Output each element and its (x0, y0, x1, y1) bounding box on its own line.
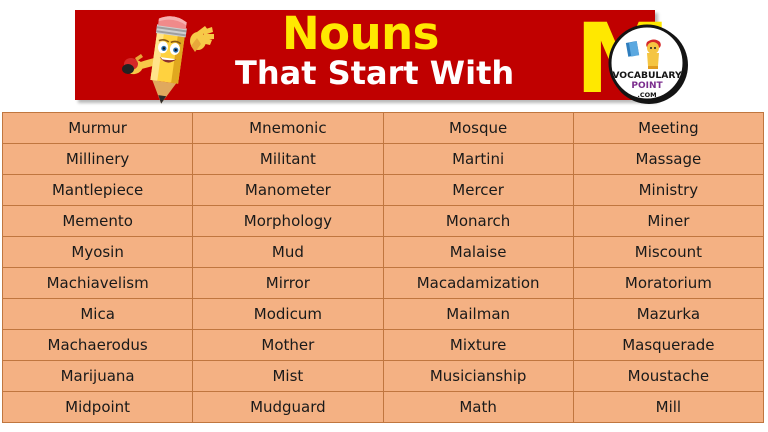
word-cell: Mica (3, 299, 193, 330)
header-banner: Nouns That Start With M VOCABULARY POINT… (75, 10, 655, 100)
pencil-mascot-icon (105, 12, 225, 104)
banner-headline: Nouns That Start With (235, 10, 580, 100)
table-row: MantlepieceManometerMercerMinistry (3, 175, 764, 206)
word-cell: Meeting (573, 113, 763, 144)
word-list-table: MurmurMnemonicMosqueMeetingMillineryMili… (2, 112, 764, 423)
word-cell: Musicianship (383, 361, 573, 392)
logo-line2: POINT (631, 81, 663, 91)
word-cell: Mnemonic (193, 113, 383, 144)
word-cell: Mercer (383, 175, 573, 206)
word-cell: Miscount (573, 237, 763, 268)
word-cell: Machiavelism (3, 268, 193, 299)
word-cell: Memento (3, 206, 193, 237)
table-row: MidpointMudguardMathMill (3, 392, 764, 423)
word-cell: Mist (193, 361, 383, 392)
word-cell: Masquerade (573, 330, 763, 361)
word-cell: Machaerodus (3, 330, 193, 361)
word-cell: Mother (193, 330, 383, 361)
table-row: MachaerodusMotherMixtureMasquerade (3, 330, 764, 361)
table-row: MillineryMilitantMartiniMassage (3, 144, 764, 175)
word-cell: Myosin (3, 237, 193, 268)
word-cell: Millinery (3, 144, 193, 175)
logo-line1: VOCABULARY (612, 70, 682, 81)
word-cell: Murmur (3, 113, 193, 144)
word-cell: Mirror (193, 268, 383, 299)
word-cell: Ministry (573, 175, 763, 206)
table-row: MachiavelismMirrorMacadamizationMoratori… (3, 268, 764, 299)
logo-line3: .COM (637, 91, 656, 99)
word-cell: Mantlepiece (3, 175, 193, 206)
vocabulary-point-logo[interactable]: VOCABULARY POINT .COM (607, 22, 691, 106)
word-cell: Mudguard (193, 392, 383, 423)
word-cell: Martini (383, 144, 573, 175)
word-cell: Moustache (573, 361, 763, 392)
word-cell: Manometer (193, 175, 383, 206)
table-row: MurmurMnemonicMosqueMeeting (3, 113, 764, 144)
table-row: MarijuanaMistMusicianshipMoustache (3, 361, 764, 392)
word-cell: Morphology (193, 206, 383, 237)
word-cell: Mosque (383, 113, 573, 144)
banner-title-sub: That Start With (235, 54, 514, 92)
word-cell: Macadamization (383, 268, 573, 299)
word-cell: Monarch (383, 206, 573, 237)
table-row: MyosinMudMalaiseMiscount (3, 237, 764, 268)
table-body: MurmurMnemonicMosqueMeetingMillineryMili… (3, 113, 764, 423)
word-cell: Mailman (383, 299, 573, 330)
word-cell: Moratorium (573, 268, 763, 299)
word-cell: Malaise (383, 237, 573, 268)
table-row: MementoMorphologyMonarchMiner (3, 206, 764, 237)
word-cell: Math (383, 392, 573, 423)
word-cell: Midpoint (3, 392, 193, 423)
word-cell: Miner (573, 206, 763, 237)
table-row: MicaModicumMailmanMazurka (3, 299, 764, 330)
word-cell: Militant (193, 144, 383, 175)
word-cell: Mill (573, 392, 763, 423)
word-cell: Marijuana (3, 361, 193, 392)
word-cell: Mud (193, 237, 383, 268)
word-cell: Mazurka (573, 299, 763, 330)
banner-title-main: Nouns (282, 9, 439, 59)
word-cell: Modicum (193, 299, 383, 330)
word-cell: Massage (573, 144, 763, 175)
word-cell: Mixture (383, 330, 573, 361)
